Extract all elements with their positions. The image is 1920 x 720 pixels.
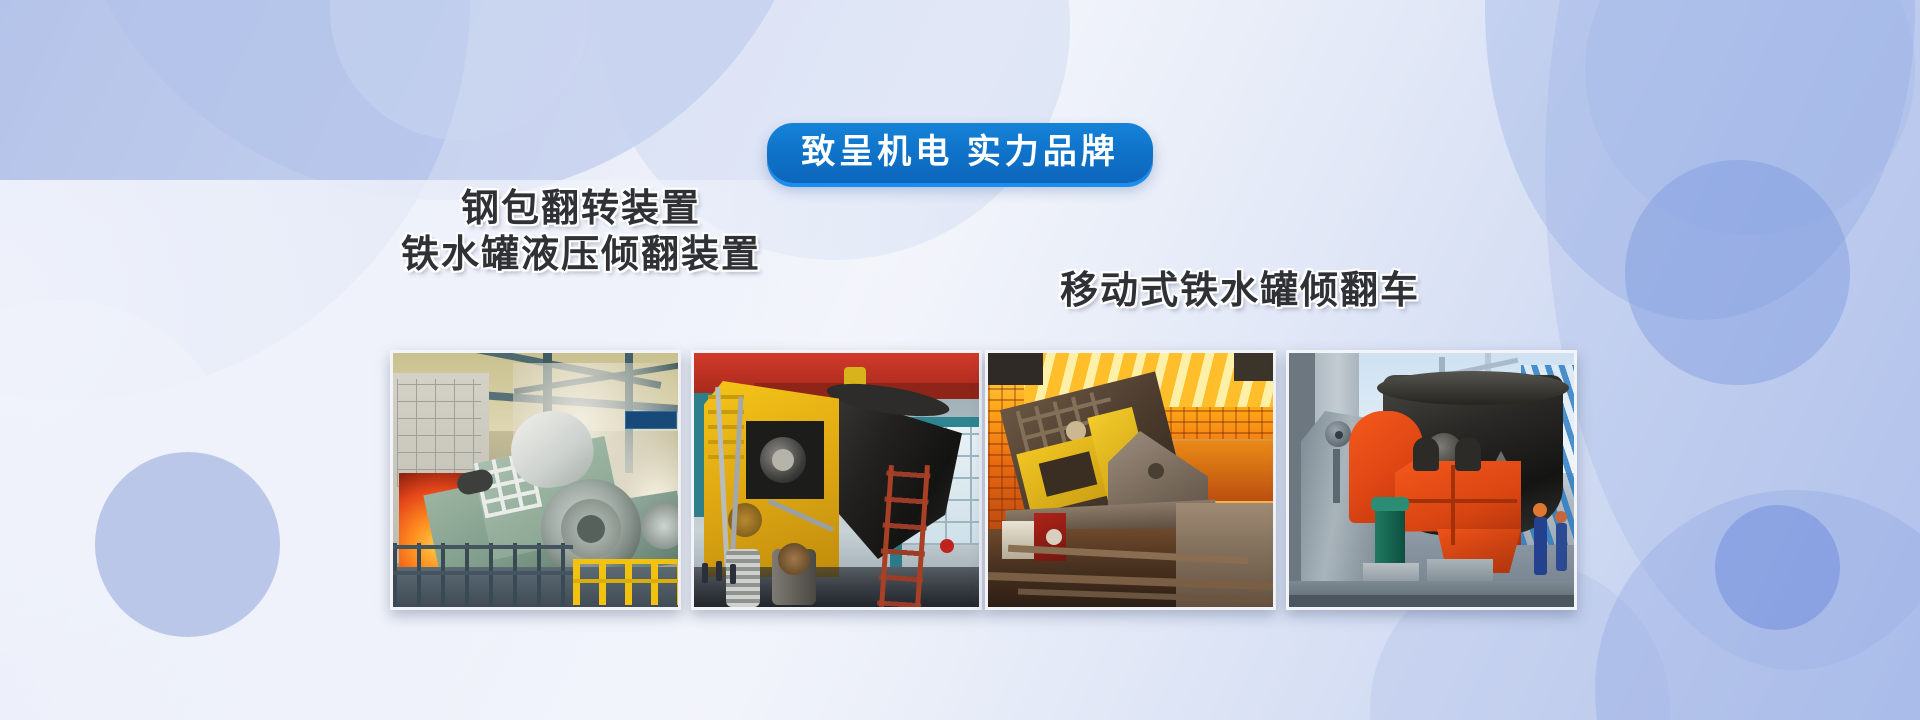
slogan-badge-container: 致呈机电 实力品牌 xyxy=(0,123,1920,183)
photo-strip xyxy=(0,350,1920,610)
photo-group-mobile-tipping-car xyxy=(985,350,1577,610)
photo-orange-tipping-mechanism[interactable] xyxy=(1286,350,1577,610)
decorative-circle xyxy=(330,0,590,140)
heading-left-line2: 铁水罐液压倾翻装置 xyxy=(386,232,776,278)
heading-left-line1: 钢包翻转装置 xyxy=(386,186,776,232)
decorative-circle xyxy=(1585,0,1915,235)
photo-tipping-car-hot-furnace[interactable] xyxy=(985,350,1276,610)
heading-left: 钢包翻转装置 铁水罐液压倾翻装置 xyxy=(386,186,776,278)
photo-group-ladle-tilting-device xyxy=(390,350,982,610)
heading-right: 移动式铁水罐倾翻车 xyxy=(1060,268,1420,314)
slogan-badge: 致呈机电 实力品牌 xyxy=(767,123,1152,183)
photo-yellow-hydraulic-tilter[interactable] xyxy=(691,350,982,610)
photo-ladle-tilter-furnace[interactable] xyxy=(390,350,681,610)
promo-banner: 致呈机电 实力品牌 钢包翻转装置 铁水罐液压倾翻装置 移动式铁水罐倾翻车 xyxy=(0,0,1920,720)
